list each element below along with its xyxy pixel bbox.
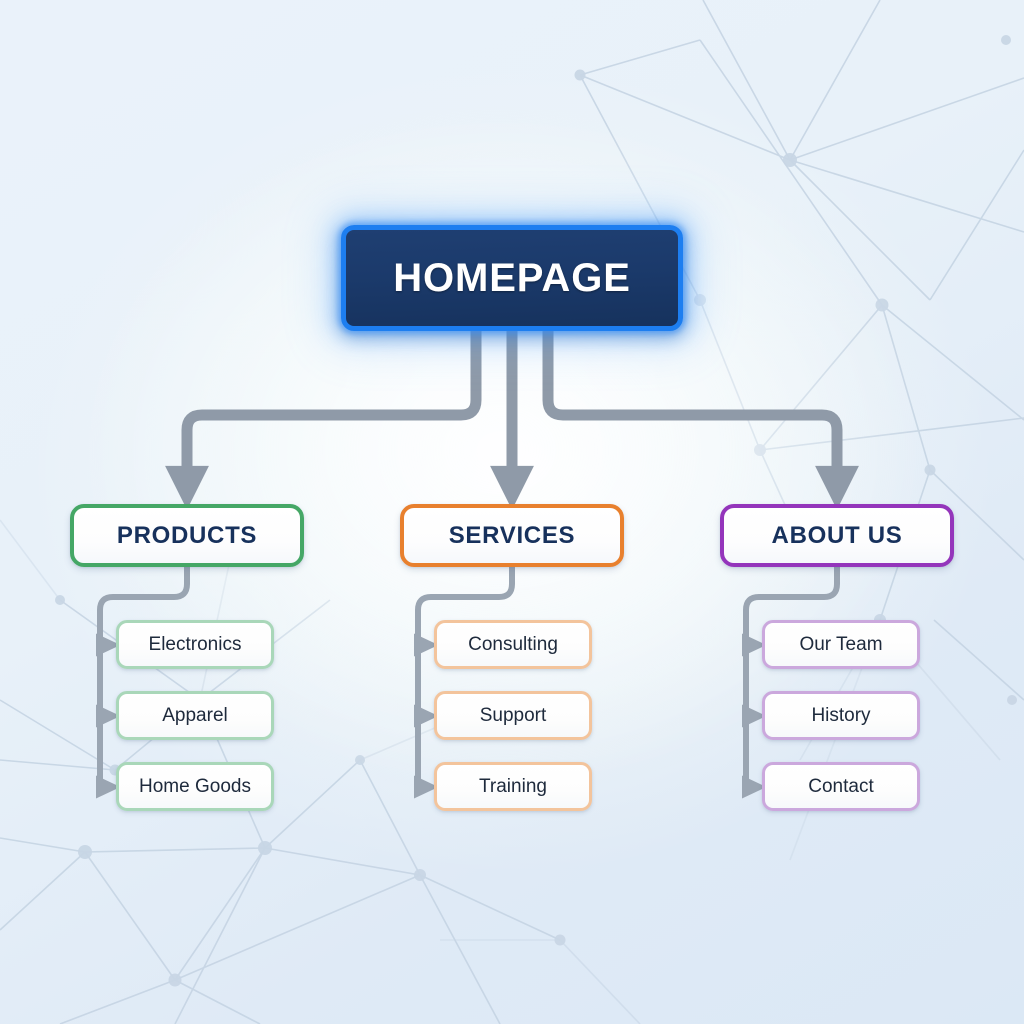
node-contact[interactable]: Contact [762, 762, 920, 811]
connector-homepage-to-about [548, 331, 837, 487]
node-about-us-label: ABOUT US [772, 522, 903, 550]
node-history-label: History [811, 705, 870, 727]
node-electronics[interactable]: Electronics [116, 620, 274, 669]
node-services[interactable]: SERVICES [400, 504, 624, 567]
node-services-label: SERVICES [449, 522, 576, 550]
node-homepage-label: HOMEPAGE [393, 256, 631, 301]
node-home-goods-label: Home Goods [139, 776, 251, 798]
node-about-us[interactable]: ABOUT US [720, 504, 954, 567]
node-consulting[interactable]: Consulting [434, 620, 592, 669]
node-home-goods[interactable]: Home Goods [116, 762, 274, 811]
node-products-label: PRODUCTS [117, 522, 257, 550]
node-products[interactable]: PRODUCTS [70, 504, 304, 567]
node-apparel[interactable]: Apparel [116, 691, 274, 740]
node-apparel-label: Apparel [162, 705, 228, 727]
node-contact-label: Contact [808, 776, 873, 798]
node-support[interactable]: Support [434, 691, 592, 740]
node-history[interactable]: History [762, 691, 920, 740]
connector-about-trunk [746, 567, 837, 787]
node-electronics-label: Electronics [149, 634, 242, 656]
node-consulting-label: Consulting [468, 634, 558, 656]
connector-products-trunk [100, 567, 187, 787]
diagram-canvas: HOMEPAGE PRODUCTS SERVICES ABOUT US Elec… [0, 0, 1024, 1024]
node-our-team-label: Our Team [799, 634, 882, 656]
node-our-team[interactable]: Our Team [762, 620, 920, 669]
node-training-label: Training [479, 776, 547, 798]
connector-services-trunk [418, 567, 512, 787]
node-support-label: Support [480, 705, 547, 727]
connector-homepage-to-products [187, 331, 476, 487]
node-training[interactable]: Training [434, 762, 592, 811]
node-homepage[interactable]: HOMEPAGE [341, 225, 683, 331]
